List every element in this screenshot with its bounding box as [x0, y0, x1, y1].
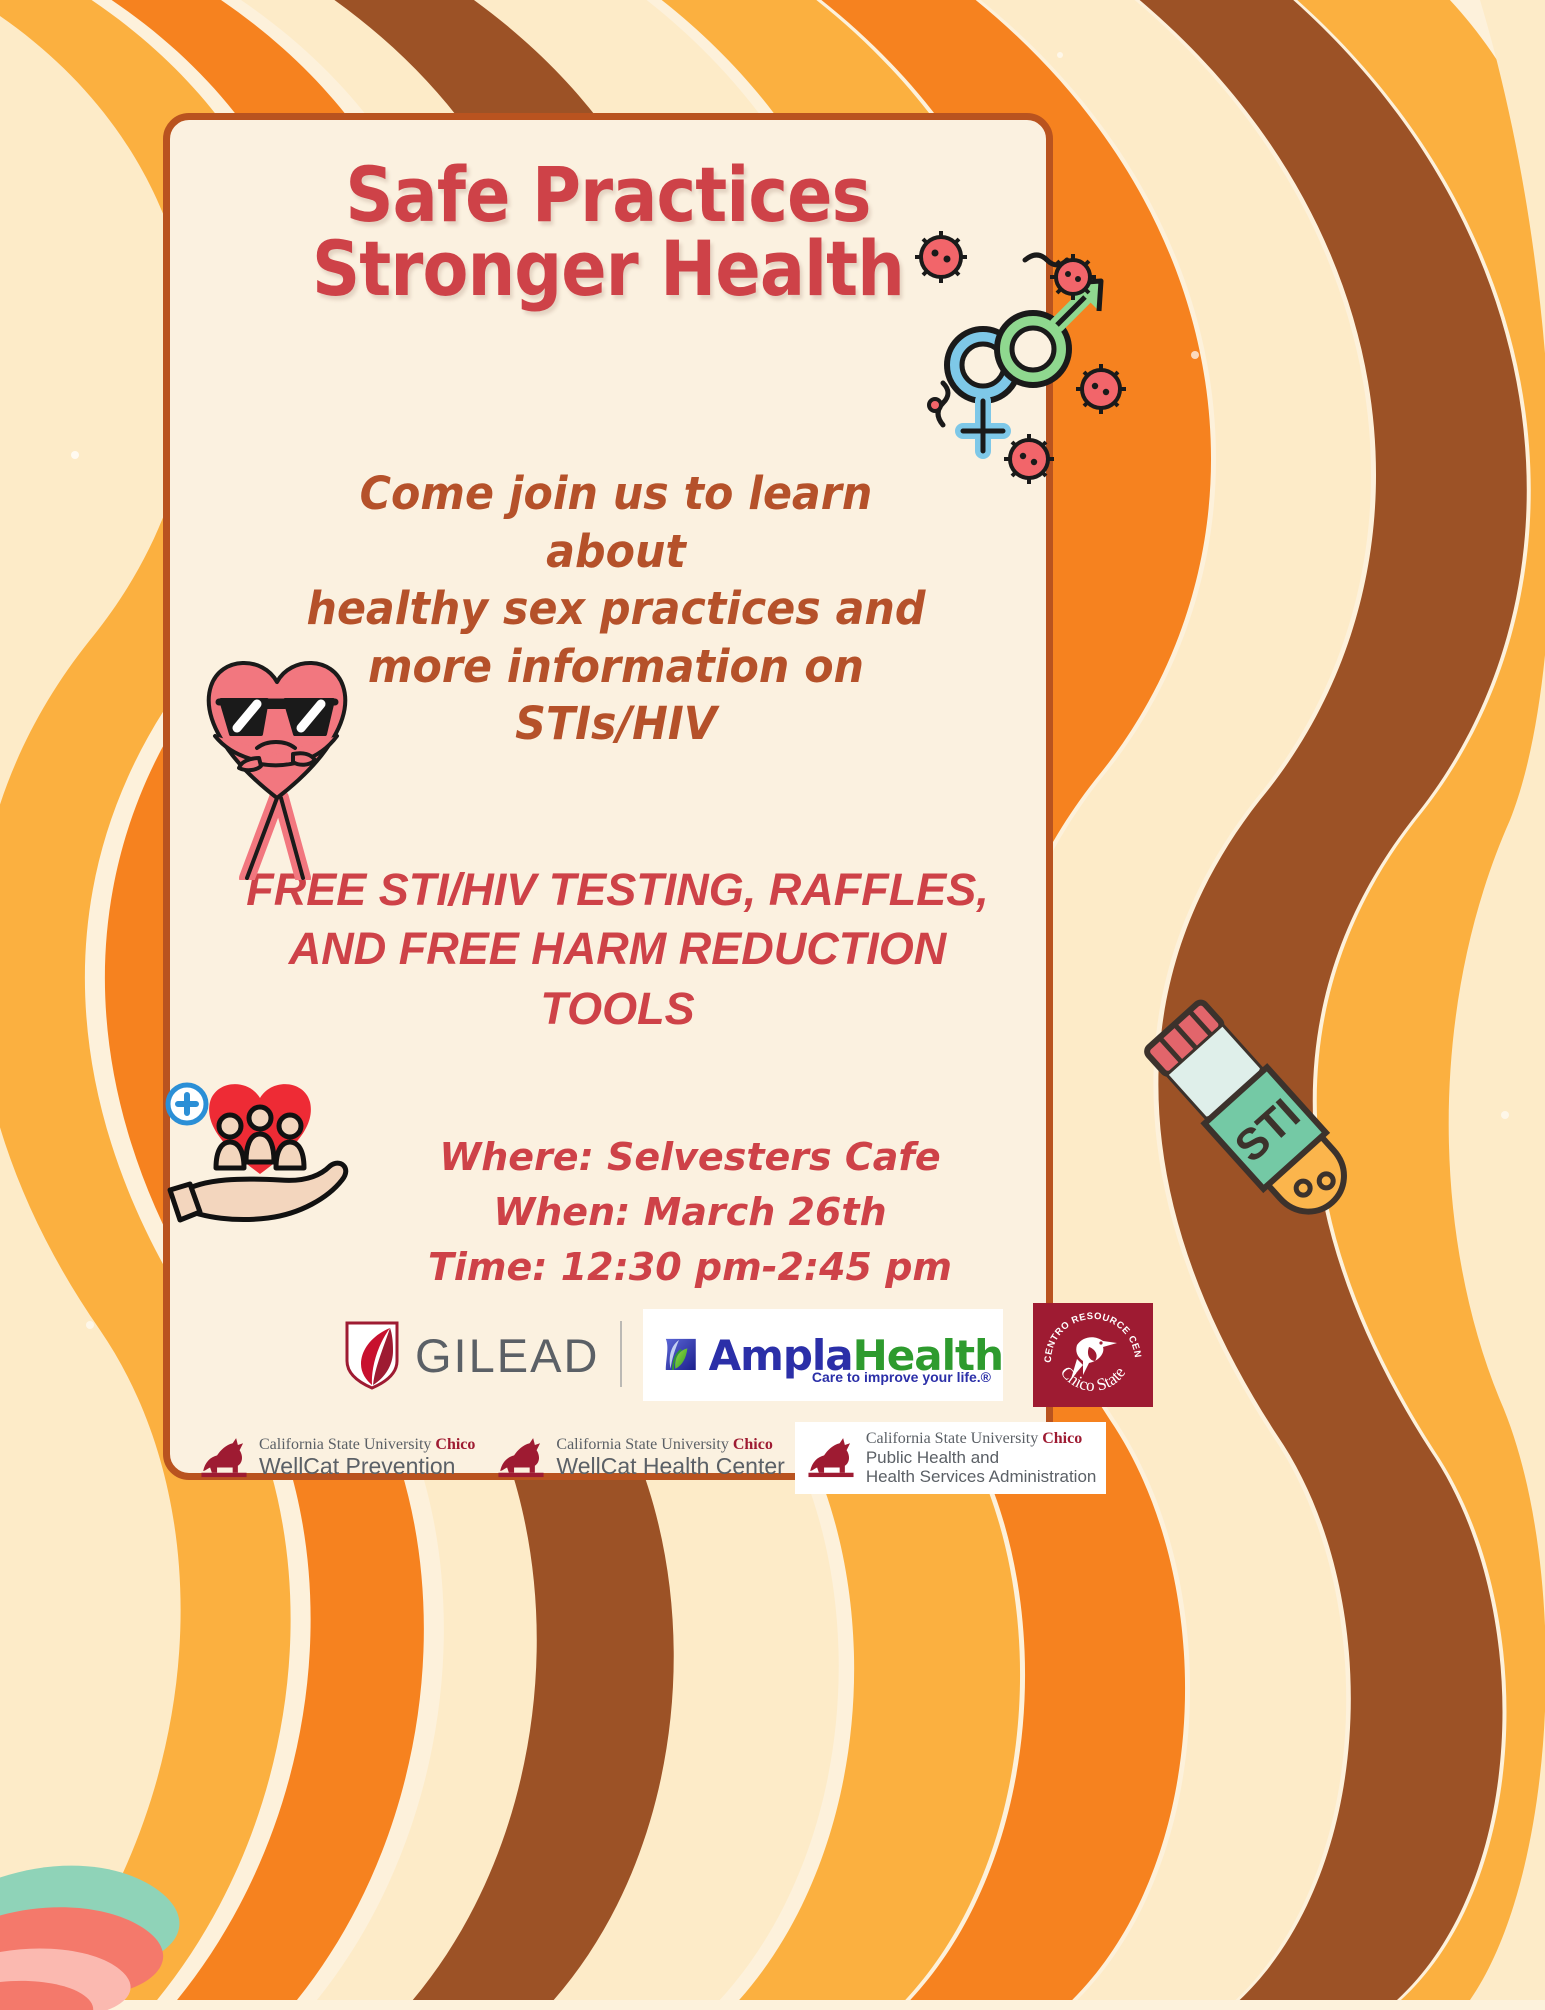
unit-name: WellCat Prevention [259, 1454, 475, 1480]
offer-block: FREE STI/HIV TESTING, RAFFLES, AND FREE … [190, 860, 1045, 1038]
el-centro-logo: EL CENTRO RESOURCE CENTER Chico State [1033, 1303, 1153, 1407]
wildcat-icon [805, 1435, 857, 1481]
offer-line-2: AND FREE HARM REDUCTION [190, 919, 1045, 978]
gilead-wordmark: GILEAD [415, 1328, 599, 1383]
ampla-tagline: Care to improve your life.® [812, 1369, 991, 1385]
logo-text: California State University Chico WellCa… [259, 1436, 475, 1480]
logo-text: California State University Chico Public… [866, 1430, 1097, 1486]
public-health-logo: California State University Chico Public… [795, 1422, 1107, 1494]
intro-paragraph: Come join us to learn about healthy sex … [284, 465, 949, 753]
intro-line-1: Come join us to learn about [284, 465, 949, 580]
title-line-2: Stronger Health [223, 232, 994, 306]
event-location: Where: Selvesters Cafe [360, 1130, 1020, 1185]
event-date: When: March 26th [360, 1185, 1020, 1240]
gilead-shield-icon [343, 1319, 401, 1391]
wellcat-prevention-logo: California State University Chico WellCa… [188, 1422, 485, 1494]
hand-holding-heart-people-icon [160, 1080, 350, 1230]
university-name: California State University Chico [556, 1436, 784, 1454]
wildcat-icon [495, 1435, 547, 1481]
gilead-logo: GILEAD [343, 1315, 603, 1395]
ampla-health-logo: Ampla Health Care to improve your life.® [643, 1309, 1003, 1401]
sponsor-row-primary: GILEAD [188, 1307, 1198, 1415]
event-details: Where: Selvesters Cafe When: March 26th … [360, 1130, 1020, 1295]
wellcat-health-center-logo: California State University Chico WellCa… [485, 1422, 794, 1494]
page-title: Safe Practices Stronger Health [223, 158, 994, 305]
sti-test-tube-icon: STI [1135, 975, 1405, 1235]
offer-line-3: TOOLS [190, 979, 1045, 1038]
intro-line-2: healthy sex practices and [284, 580, 949, 638]
unit-name-line-1: Public Health and [866, 1448, 1097, 1467]
decorative-blob-icon [0, 1830, 220, 2010]
intro-line-3: more information on [284, 638, 949, 696]
wildcat-icon [198, 1435, 250, 1481]
university-name: California State University Chico [866, 1430, 1097, 1448]
logo-text: California State University Chico WellCa… [556, 1436, 784, 1480]
el-centro-seal: EL CENTRO RESOURCE CENTER Chico State [1033, 1303, 1153, 1407]
gender-symbols-with-germs-icon [905, 225, 1155, 490]
poster-root: Safe Practices Stronger Health Come join… [0, 0, 1545, 2000]
intro-line-4: STIs/HIV [284, 695, 949, 753]
logo-divider [620, 1321, 622, 1387]
title-line-1: Safe Practices [223, 158, 994, 232]
sponsor-row-university: California State University Chico WellCa… [188, 1420, 1198, 1496]
cool-heart-character-icon [185, 650, 370, 880]
ampla-leaf-icon [661, 1322, 701, 1388]
unit-name: WellCat Health Center [556, 1454, 784, 1480]
university-name: California State University Chico [259, 1436, 475, 1454]
unit-name-line-2: Health Services Administration [866, 1467, 1097, 1486]
event-time: Time: 12:30 pm-2:45 pm [360, 1240, 1020, 1295]
